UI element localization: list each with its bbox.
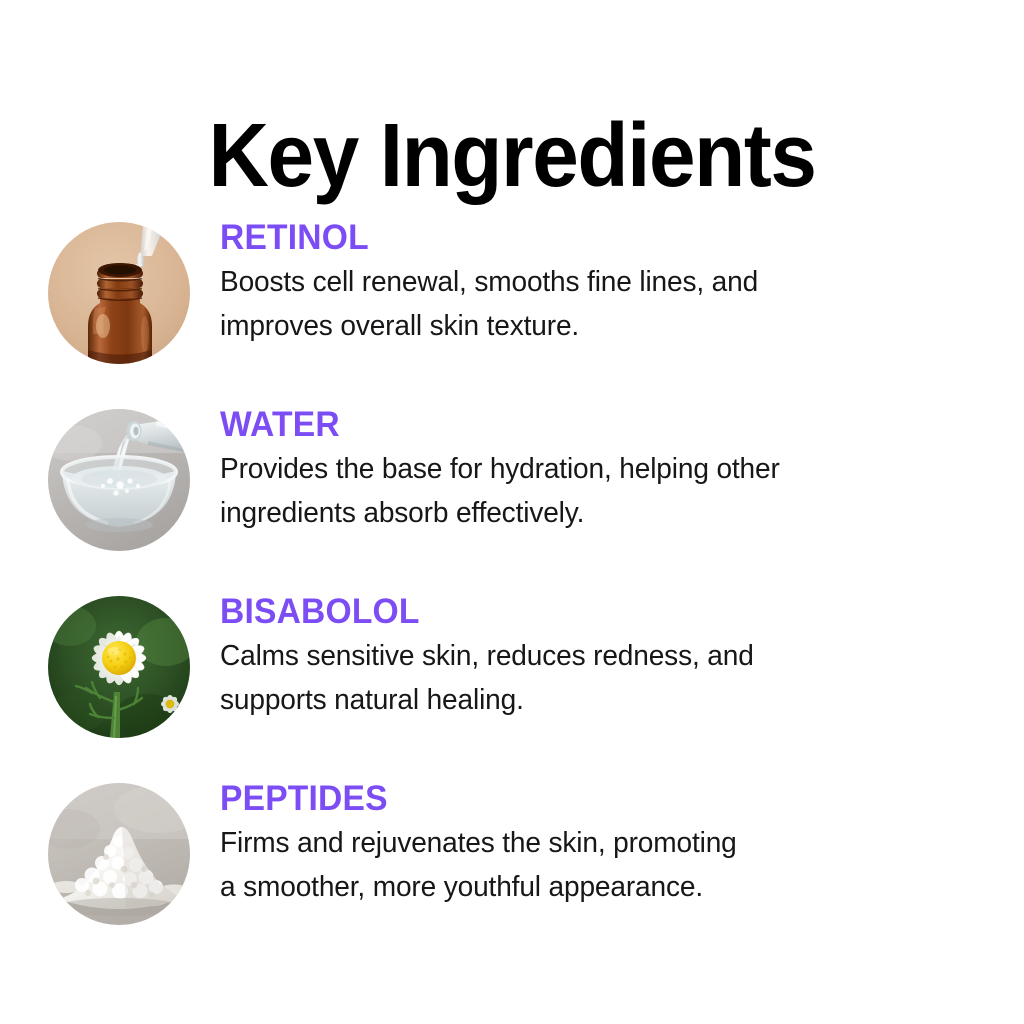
white-powder-photo (48, 783, 190, 925)
ingredient-text-water: WATER Provides the base for hydration, h… (220, 405, 990, 535)
ingredient-row-retinol: RETINOL Boosts cell renewal, smooths fin… (0, 210, 1024, 397)
key-ingredients-poster: Key Ingredients (0, 0, 1024, 1024)
dropper-bottle-photo (48, 222, 190, 364)
ingredient-text-peptides: PEPTIDES Firms and rejuvenates the skin,… (220, 779, 990, 909)
ingredient-description: Firms and rejuvenates the skin, promotin… (220, 821, 978, 909)
water-pouring-photo (48, 409, 190, 551)
description-line-1: Calms sensitive skin, reduces redness, a… (220, 640, 754, 672)
description-line-2: a smoother, more youthful appearance. (220, 865, 978, 909)
chamomile-flower-photo (48, 596, 190, 738)
ingredient-name: PEPTIDES (220, 779, 959, 819)
ingredient-list: RETINOL Boosts cell renewal, smooths fin… (0, 210, 1024, 958)
page-title: Key Ingredients (36, 108, 988, 204)
ingredient-name: BISABOLOL (220, 592, 959, 632)
description-line-1: Firms and rejuvenates the skin, promotin… (220, 827, 737, 859)
description-line-2: ingredients absorb effectively. (220, 491, 978, 535)
ingredient-text-retinol: RETINOL Boosts cell renewal, smooths fin… (220, 218, 990, 348)
ingredient-description: Provides the base for hydration, helping… (220, 447, 978, 535)
ingredient-row-bisabolol: BISABOLOL Calms sensitive skin, reduces … (0, 584, 1024, 771)
description-line-2: improves overall skin texture. (220, 304, 978, 348)
description-line-1: Provides the base for hydration, helping… (220, 453, 780, 485)
ingredient-row-water: WATER Provides the base for hydration, h… (0, 397, 1024, 584)
ingredient-text-bisabolol: BISABOLOL Calms sensitive skin, reduces … (220, 592, 990, 722)
ingredient-row-peptides: PEPTIDES Firms and rejuvenates the skin,… (0, 771, 1024, 958)
ingredient-description: Calms sensitive skin, reduces redness, a… (220, 634, 978, 722)
description-line-1: Boosts cell renewal, smooths fine lines,… (220, 266, 758, 298)
ingredient-name: WATER (220, 405, 959, 445)
ingredient-description: Boosts cell renewal, smooths fine lines,… (220, 260, 978, 348)
description-line-2: supports natural healing. (220, 678, 978, 722)
ingredient-name: RETINOL (220, 218, 959, 258)
